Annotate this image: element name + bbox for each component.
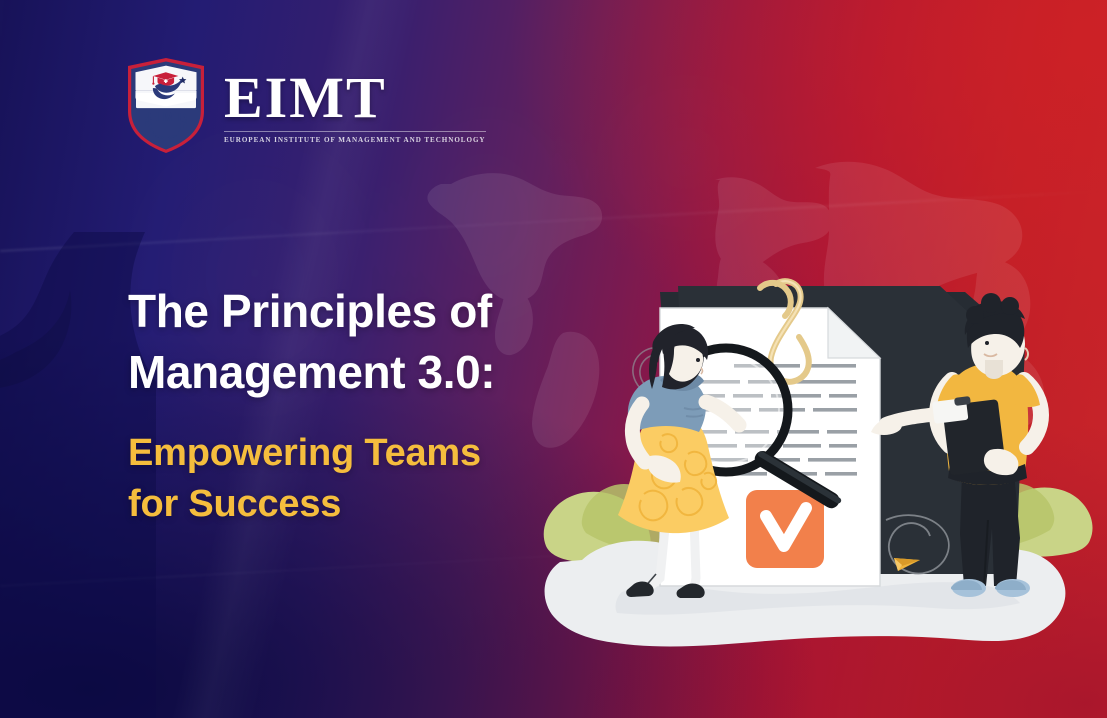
banner-hero: EIMT EIMT EUROPEAN INSTITUTE OF MANAGEME… <box>0 0 1107 718</box>
shield-icon: EIMT <box>124 57 208 154</box>
brand-logo[interactable]: EIMT EIMT EUROPEAN INSTITUTE OF MANAGEME… <box>124 57 486 154</box>
headline-line-1: The Principles of <box>128 281 598 342</box>
checkmark-badge-icon <box>746 490 824 568</box>
headline-line-2: Management 3.0: <box>128 342 598 403</box>
shield-label: EIMT <box>147 109 184 126</box>
logo-tagline: EUROPEAN INSTITUTE OF MANAGEMENT AND TEC… <box>224 136 486 144</box>
logo-wordmark-block: EIMT EUROPEAN INSTITUTE OF MANAGEMENT AN… <box>224 67 486 143</box>
headline-block: The Principles of Management 3.0: <box>128 281 598 403</box>
document-review-illustration <box>538 268 1098 650</box>
subheadline-line-1: Empowering Teams <box>128 428 598 479</box>
subheadline-block: Empowering Teams for Success <box>128 428 598 531</box>
subheadline-line-2: for Success <box>128 479 598 530</box>
logo-divider <box>224 131 486 132</box>
logo-wordmark: EIMT <box>224 71 486 124</box>
